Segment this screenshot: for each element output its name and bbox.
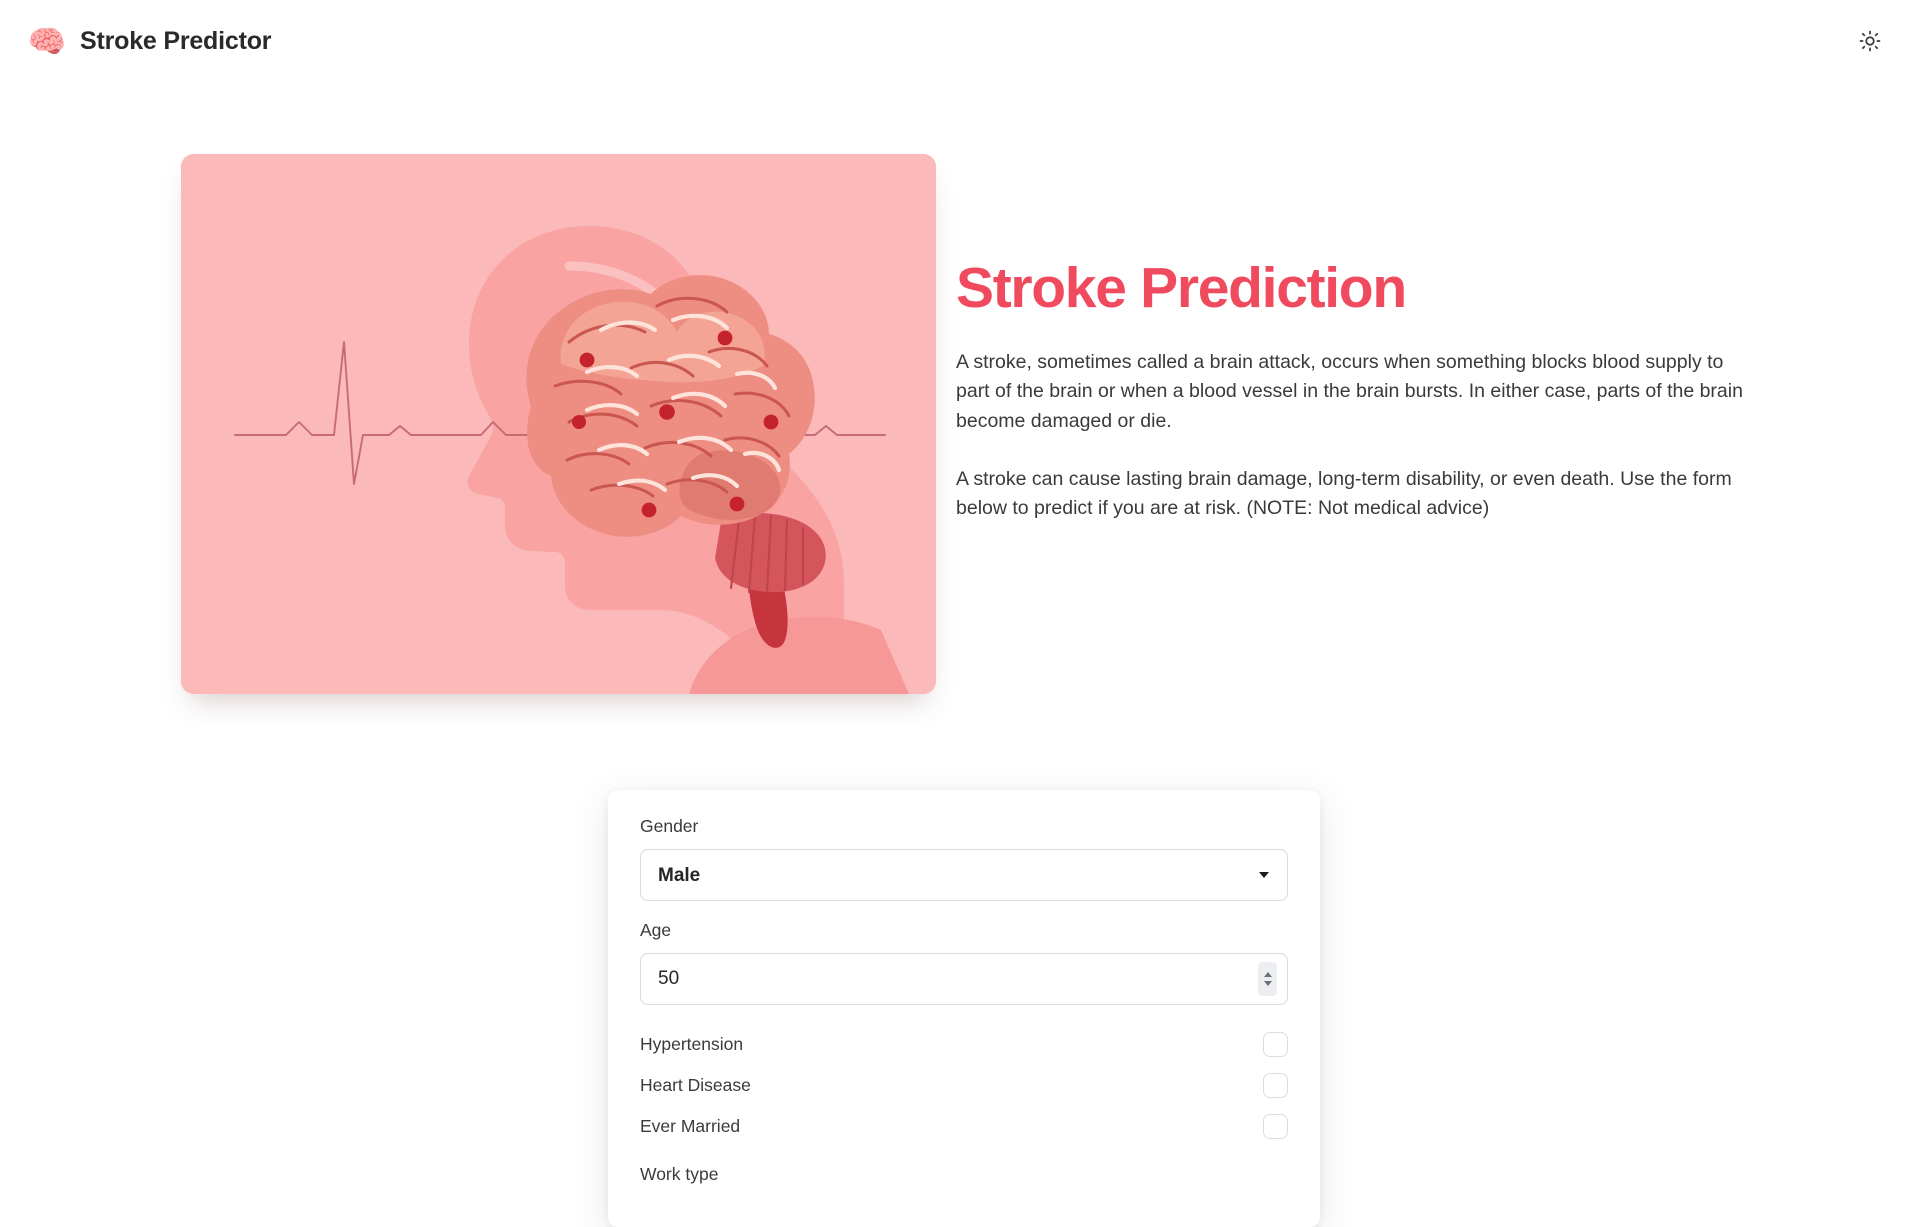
hero-copy: Stroke Prediction A stroke, sometimes ca…	[956, 154, 1756, 524]
page-title: Stroke Prediction	[956, 259, 1756, 319]
gender-field: Gender Male	[640, 816, 1288, 901]
hypertension-checkbox[interactable]	[1263, 1032, 1288, 1057]
age-field: Age	[640, 920, 1288, 1005]
ever-married-checkbox[interactable]	[1263, 1114, 1288, 1139]
ever-married-row[interactable]: Ever Married	[640, 1106, 1288, 1147]
hypertension-label: Hypertension	[640, 1034, 743, 1055]
ever-married-label: Ever Married	[640, 1116, 740, 1137]
app-title: Stroke Predictor	[80, 27, 271, 56]
gender-label: Gender	[640, 816, 1288, 837]
app-header: 🧠 Stroke Predictor	[0, 0, 1920, 82]
sun-icon	[1859, 30, 1881, 52]
hero-paragraph-1: A stroke, sometimes called a brain attac…	[956, 348, 1756, 437]
hero-section: Stroke Prediction A stroke, sometimes ca…	[0, 82, 1920, 694]
stepper-up-icon[interactable]	[1264, 972, 1272, 977]
stroke-illustration-card	[181, 154, 936, 694]
age-stepper[interactable]	[1258, 962, 1277, 996]
brain-stroke-illustration	[181, 154, 936, 694]
heart-disease-row[interactable]: Heart Disease	[640, 1065, 1288, 1106]
work-type-label: Work type	[640, 1164, 1288, 1185]
brand: 🧠 Stroke Predictor	[28, 22, 271, 60]
age-input[interactable]	[640, 953, 1288, 1005]
hero-paragraph-2: A stroke can cause lasting brain damage,…	[956, 465, 1756, 524]
gender-select[interactable]: Male	[640, 849, 1288, 901]
age-label: Age	[640, 920, 1288, 941]
brain-icon: 🧠	[28, 22, 66, 60]
stepper-down-icon[interactable]	[1264, 981, 1272, 986]
theme-toggle-button[interactable]	[1850, 21, 1890, 61]
heart-disease-label: Heart Disease	[640, 1075, 751, 1096]
prediction-form-card: Gender Male Age Hypertension Heart Disea…	[608, 790, 1320, 1227]
heart-disease-checkbox[interactable]	[1263, 1073, 1288, 1098]
hypertension-row[interactable]: Hypertension	[640, 1024, 1288, 1065]
work-type-field: Work type	[640, 1164, 1288, 1185]
